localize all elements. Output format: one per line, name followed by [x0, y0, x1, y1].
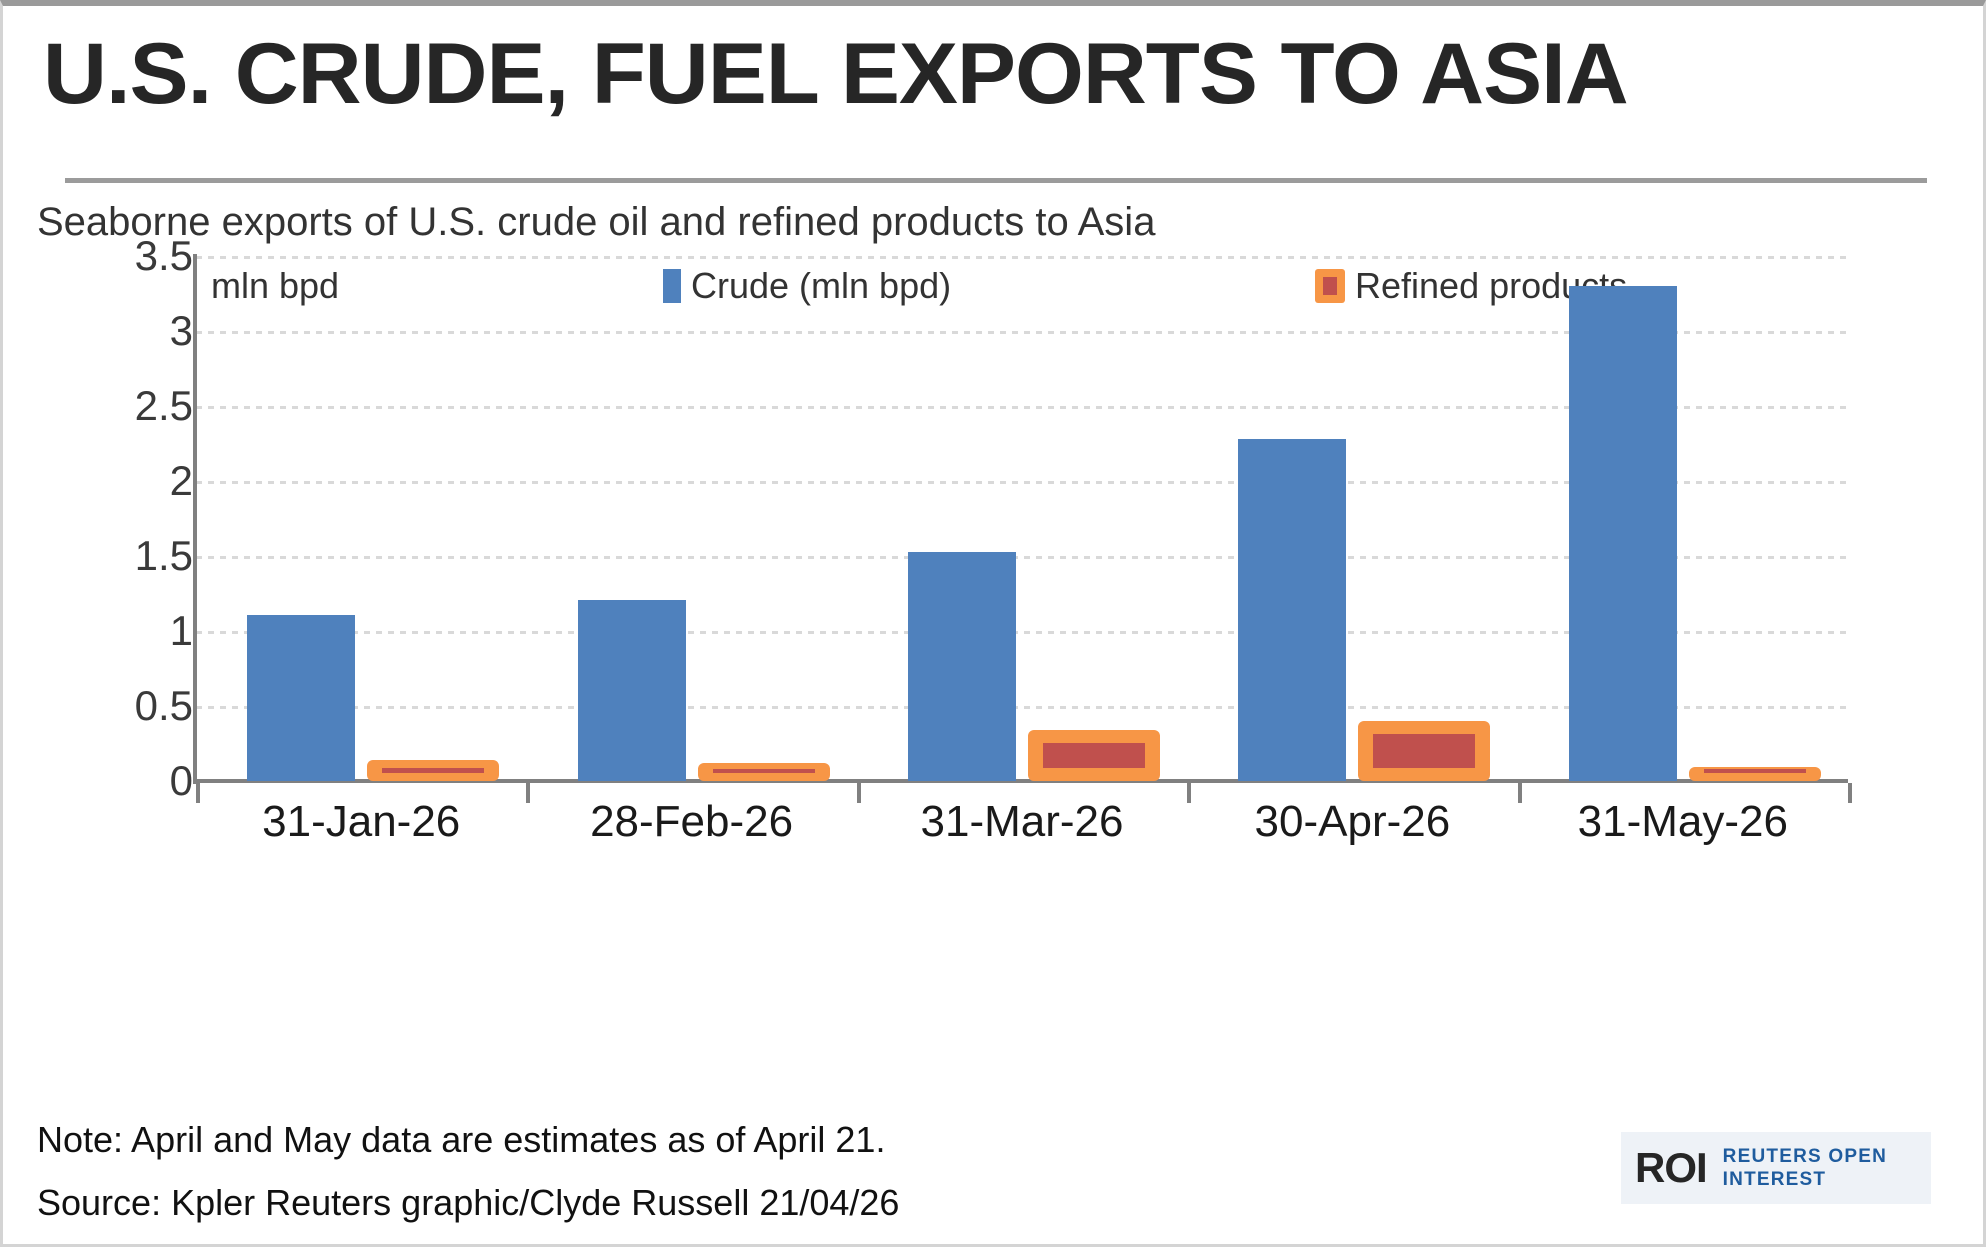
bar-refined-products[interactable]	[1689, 767, 1821, 781]
y-axis-tick-label: 1.5	[63, 535, 193, 577]
y-axis-line	[193, 254, 197, 784]
bar-crude[interactable]	[1569, 286, 1677, 781]
reuters-open-interest-logo: ROI REUTERS OPEN INTEREST	[1621, 1132, 1931, 1204]
roi-logo-line2: INTEREST	[1723, 1169, 1827, 1190]
header-divider	[65, 178, 1927, 183]
bar-refined-products[interactable]	[367, 760, 499, 781]
bar-crude[interactable]	[908, 552, 1016, 782]
bar-refined-products-inner	[713, 769, 815, 773]
y-axis-tick-label: 3.5	[63, 235, 193, 277]
x-axis-tick	[1848, 783, 1852, 803]
bar-refined-products-inner	[1373, 734, 1475, 768]
bar-refined-products[interactable]	[1028, 730, 1160, 781]
gridline	[196, 256, 1846, 259]
x-axis-label: 31-Mar-26	[857, 796, 1187, 848]
roi-logo-mark: ROI	[1635, 1147, 1707, 1189]
chart-frame: U.S. CRUDE, FUEL EXPORTS TO ASIA Seaborn…	[0, 0, 1986, 1247]
y-axis-tick-label: 2.5	[63, 385, 193, 427]
bar-refined-products-inner	[382, 768, 484, 773]
y-axis-tick-label: 2	[63, 460, 193, 502]
page-title: U.S. CRUDE, FUEL EXPORTS TO ASIA	[43, 28, 1986, 120]
bar-refined-products[interactable]	[698, 763, 830, 781]
chart-subtitle: Seaborne exports of U.S. crude oil and r…	[37, 198, 1837, 246]
bar-crude[interactable]	[1238, 439, 1346, 781]
x-axis-label: 31-May-26	[1518, 796, 1848, 848]
roi-logo-words: REUTERS OPEN INTEREST	[1723, 1145, 1887, 1191]
x-axis-label: 31-Jan-26	[196, 796, 526, 848]
x-axis-label: 28-Feb-26	[526, 796, 856, 848]
y-axis-tick-label: 1	[63, 610, 193, 652]
bar-refined-products[interactable]	[1358, 721, 1490, 781]
y-axis-tick-label: 3	[63, 310, 193, 352]
bar-crude[interactable]	[578, 600, 686, 782]
chart-source: Source: Kpler Reuters graphic/Clyde Russ…	[37, 1181, 899, 1225]
bar-crude[interactable]	[247, 615, 355, 782]
bar-refined-products-inner	[1043, 743, 1145, 768]
y-axis-tick-label: 0	[63, 760, 193, 802]
roi-logo-line1: REUTERS OPEN	[1723, 1146, 1887, 1167]
bar-refined-products-inner	[1704, 769, 1806, 773]
x-axis-label: 30-Apr-26	[1187, 796, 1517, 848]
chart-note: Note: April and May data are estimates a…	[37, 1118, 885, 1162]
y-axis-tick-label: 0.5	[63, 685, 193, 727]
y-axis: 00.511.522.533.5	[63, 246, 193, 791]
